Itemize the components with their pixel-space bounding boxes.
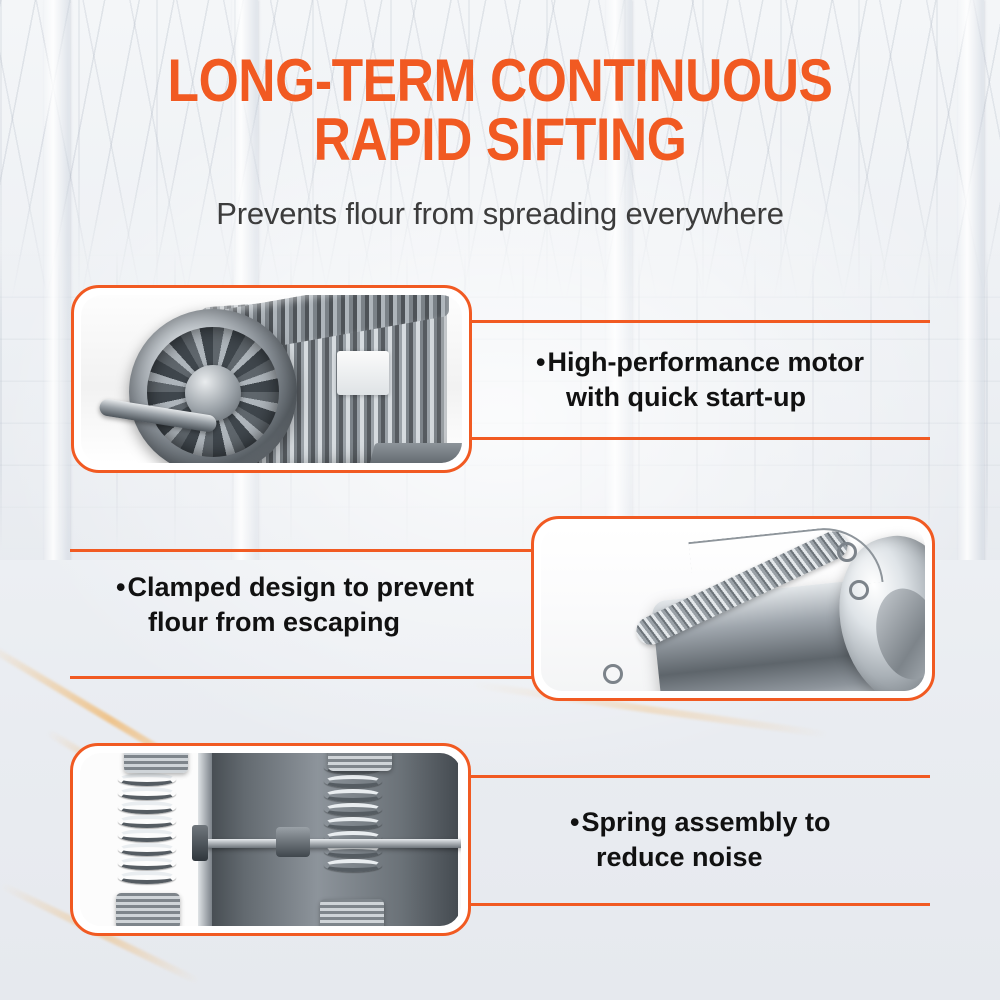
coil-spring-right bbox=[324, 761, 382, 885]
connector-line-clamp-bottom bbox=[70, 676, 535, 679]
headline: LONG-TERM CONTINUOUS RAPID SIFTING bbox=[70, 52, 930, 170]
feature-image-panel-clamp bbox=[531, 516, 935, 701]
headline-line-1: LONG-TERM CONTINUOUS bbox=[167, 47, 832, 114]
callout-motor-line-1: High-performance motor bbox=[547, 347, 864, 377]
bullet-icon: • bbox=[536, 347, 545, 377]
bullet-icon: • bbox=[570, 807, 579, 837]
bullet-icon: • bbox=[116, 572, 125, 602]
motor-mounting-foot bbox=[367, 443, 462, 463]
callout-motor-line-2: with quick start-up bbox=[536, 380, 936, 415]
connector-line-motor-bottom bbox=[470, 437, 930, 440]
spring-photo bbox=[80, 753, 461, 926]
headline-line-2: RAPID SIFTING bbox=[70, 111, 930, 170]
spring-base-seat bbox=[320, 899, 384, 926]
feature-image-panel-spring bbox=[70, 743, 471, 936]
spring-top-seat bbox=[124, 753, 188, 773]
spring-base-seat bbox=[116, 893, 180, 926]
coil-spring-left bbox=[118, 773, 176, 897]
callout-motor: •High-performance motor with quick start… bbox=[536, 345, 936, 415]
feature-image-panel-motor bbox=[71, 285, 472, 473]
clamp-photo bbox=[541, 526, 925, 691]
callout-clamp: •Clamped design to prevent flour from es… bbox=[116, 570, 516, 640]
clamp-hook bbox=[837, 542, 857, 562]
subtitle: Prevents flour from spreading everywhere bbox=[0, 196, 1000, 232]
hex-nut bbox=[276, 827, 310, 857]
spring-top-seat bbox=[328, 753, 392, 771]
retaining-clip bbox=[192, 825, 208, 861]
callout-spring-line-2: reduce noise bbox=[570, 840, 930, 875]
callout-clamp-line-2: flour from escaping bbox=[116, 605, 516, 640]
clamp-hook bbox=[849, 580, 869, 600]
connector-line-spring-bottom bbox=[468, 903, 930, 906]
connector-line-spring-top bbox=[468, 775, 930, 778]
callout-spring-line-1: Spring assembly to bbox=[581, 807, 830, 837]
connector-line-motor-top bbox=[470, 320, 930, 323]
motor-terminal-box bbox=[337, 351, 389, 395]
connector-line-clamp-top bbox=[70, 549, 535, 552]
clamp-hook bbox=[603, 664, 623, 684]
callout-spring: •Spring assembly to reduce noise bbox=[570, 805, 930, 875]
callout-clamp-line-1: Clamped design to prevent bbox=[127, 572, 474, 602]
support-bar bbox=[200, 839, 461, 848]
motor-photo bbox=[81, 295, 462, 463]
